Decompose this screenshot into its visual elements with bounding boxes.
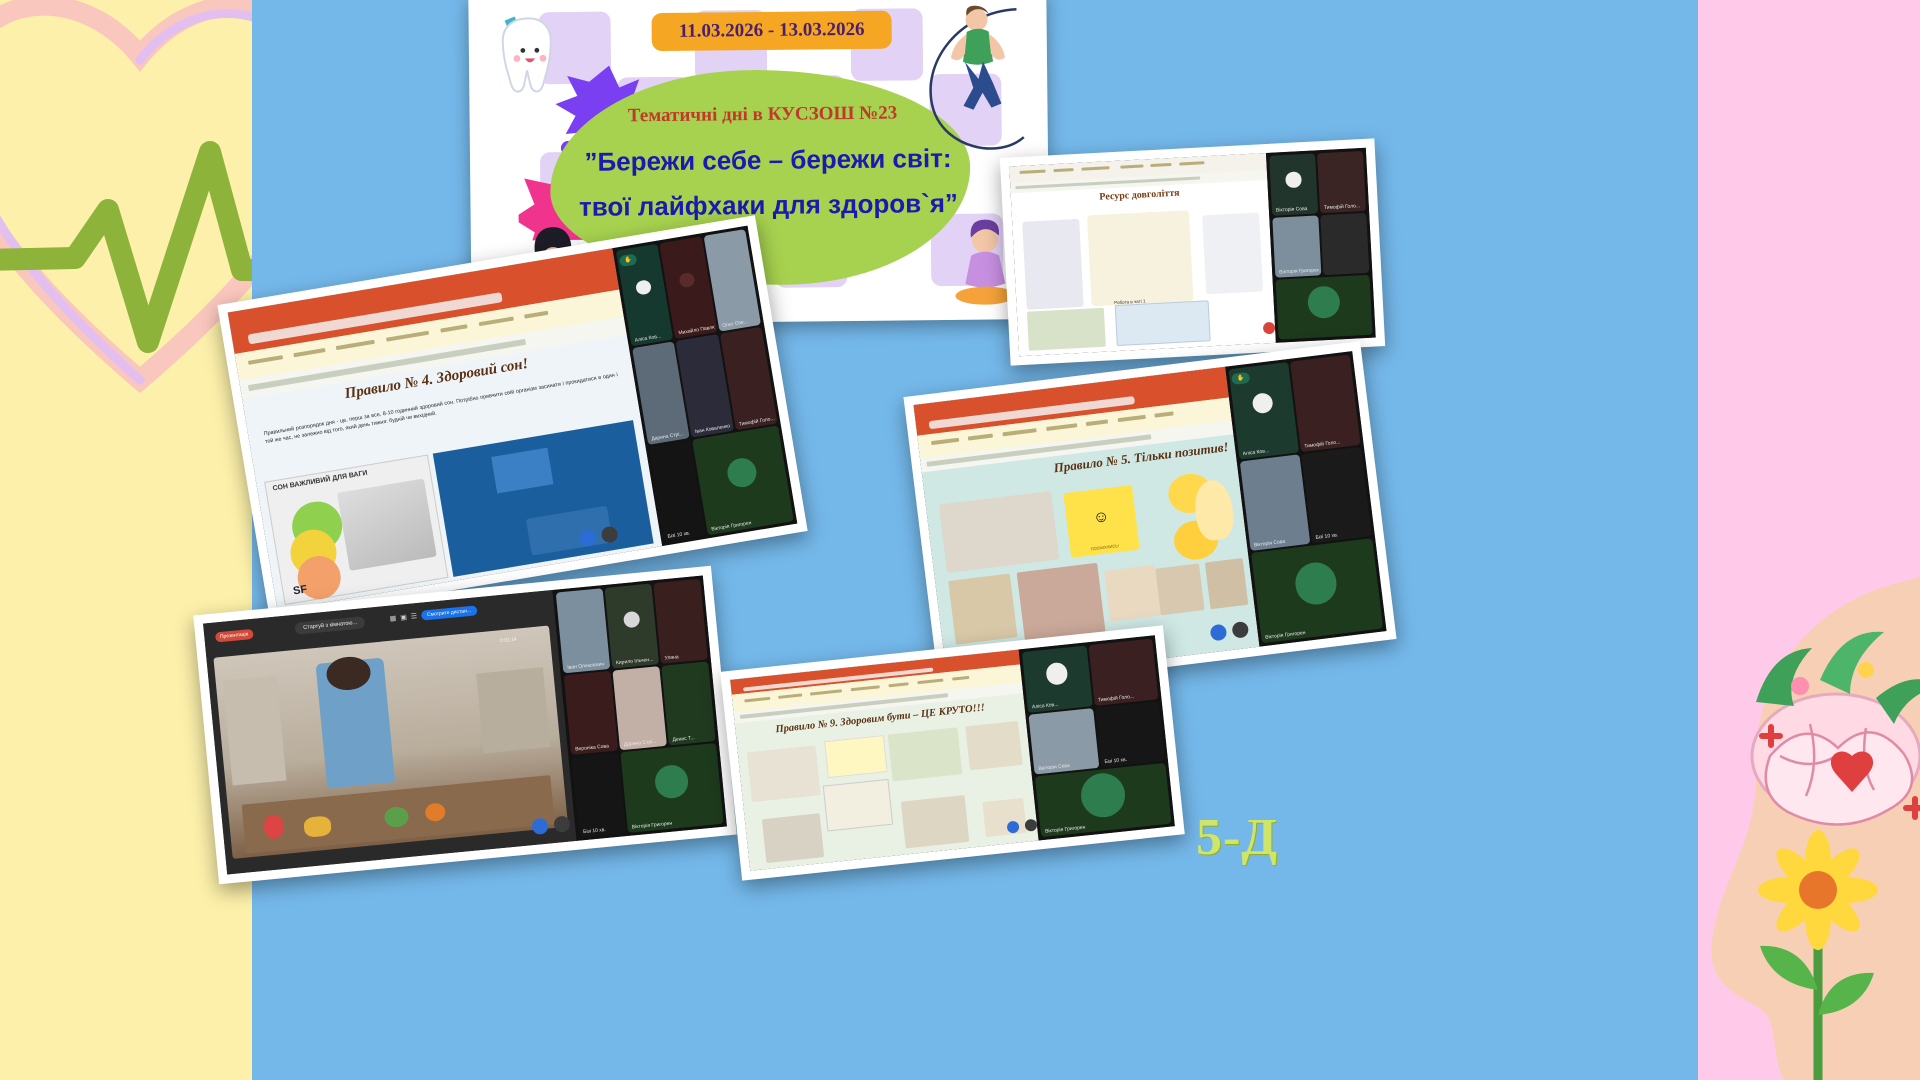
title-card-line2: твої лайфхаки для здоров`я” xyxy=(558,188,978,223)
magnifier-illustration xyxy=(1202,213,1263,294)
video-stage: Презентація Стартуй з кімнатою... ▦ ▣ ☰ … xyxy=(203,590,577,875)
right-decorative-panel xyxy=(1698,0,1920,1080)
jumping-boy-icon xyxy=(940,3,1011,114)
leave-call-button[interactable] xyxy=(1263,321,1276,334)
participant-name: Вікторія Григорен xyxy=(1279,267,1319,275)
kitchen-video-frame: 0:01:14 xyxy=(213,626,568,859)
video-toolbar: Презентація xyxy=(215,629,254,643)
participant-tile[interactable] xyxy=(1320,213,1369,275)
reactions-button[interactable] xyxy=(1210,623,1228,641)
participant-name: Бізі 10 хв. xyxy=(667,528,704,540)
grid-icon[interactable]: ▦ xyxy=(389,614,396,623)
participant-tile[interactable]: Бізі 10 хв. xyxy=(572,753,626,838)
friends-photo xyxy=(948,574,1018,645)
participant-name: Кирило Ільчен... xyxy=(616,656,657,666)
participant-tile[interactable]: Вікторія Григорен xyxy=(1272,215,1321,277)
participant-name: Іван Олексієвич xyxy=(567,661,608,671)
participant-name: Тимофій Голо... xyxy=(1324,203,1364,211)
sleep-infographic xyxy=(433,420,654,576)
smiley-sticker: ☺ ПОСМІХНИСЬ! xyxy=(1063,485,1139,557)
participant-tile[interactable]: Бізі 10 хв. xyxy=(1095,701,1165,768)
participant-name: Вікторія Григорен xyxy=(632,816,722,831)
reactions-button[interactable] xyxy=(1007,821,1020,834)
participant-tile[interactable]: Вероніка Сова xyxy=(564,670,618,755)
video-icons: ▦ ▣ ☰ Смотрите дистан... xyxy=(389,605,477,623)
participant-tile[interactable]: Тимофій Голо... xyxy=(1317,151,1366,213)
screenshot-rule4: Правило № 4. Здоровий сон! Правильний ро… xyxy=(217,215,807,621)
sleep-weight-panel: СОН ВАЖЛИВИЙ ДЛЯ ВАГИ SF xyxy=(264,455,448,605)
hand-raise-badge: ✋ xyxy=(618,253,637,267)
participant-tile[interactable]: Бізі 10 хв. xyxy=(1301,446,1372,543)
participant-tile[interactable]: Тимофій Голо... xyxy=(1088,639,1158,706)
participant-tile[interactable]: Уляна xyxy=(653,579,707,664)
fullscreen-button[interactable] xyxy=(600,525,618,543)
participant-tile[interactable]: Вікторія Григорен xyxy=(692,425,794,535)
participants-rail: Аліса Ков... Тимофій Голо... Вікторія Со… xyxy=(1019,635,1175,840)
left-decorative-panel xyxy=(0,0,252,1080)
thumbnail-image xyxy=(1114,300,1211,346)
participant-name: Уляна xyxy=(664,651,705,661)
participant-name: Вікторія Сова xyxy=(1276,205,1316,213)
room-dropdown[interactable]: Стартуй з кімнатою... xyxy=(295,616,366,635)
title-card-line1: ”Бережи себе – бережи світ: xyxy=(558,143,978,178)
presentation-slide: Правило № 9. Здоровим бути – ЦЕ КРУТО!!! xyxy=(735,693,1039,870)
cat-photo xyxy=(1155,563,1204,615)
screenshot-resurs: Ресурс довголіття Робота в чаті 1 Віктор… xyxy=(1000,138,1385,365)
screenshot-rule9: Правило № 9. Здоровим бути – ЦЕ КРУТО!!!… xyxy=(720,625,1185,880)
date-range-badge: 11.03.2026 - 13.03.2026 xyxy=(651,11,891,52)
pin-label[interactable]: Смотрите дистан... xyxy=(421,605,478,620)
screenshot-kitchen: Презентація Стартуй з кімнатою... ▦ ▣ ☰ … xyxy=(193,566,736,885)
teacher-illustration xyxy=(1022,219,1083,310)
hand-raise-badge: ✋ xyxy=(1231,372,1250,385)
participant-name: Вікторія Григорен xyxy=(1045,816,1170,835)
participant-tile[interactable]: ✋Аліса Ков... xyxy=(1228,362,1299,459)
panel-heading: СОН ВАЖЛИВИЙ ДЛЯ ВАГИ xyxy=(272,470,368,493)
pin-icon[interactable]: ▣ xyxy=(400,613,407,622)
participant-name: Дарина Стрі... xyxy=(624,738,665,748)
sport-photo xyxy=(888,727,962,781)
thumbnail-image xyxy=(1027,308,1106,351)
icon-grid-image xyxy=(823,779,893,832)
panel-logo: SF xyxy=(292,583,308,597)
fullscreen-button[interactable] xyxy=(1025,819,1038,832)
note-image xyxy=(824,735,888,779)
pet-photo xyxy=(1205,558,1248,609)
participant-tile[interactable]: Вікторія Григорен xyxy=(1251,538,1383,643)
participant-name: Бізі 10 хв. xyxy=(583,825,624,835)
handprints-image xyxy=(746,745,821,802)
daisy-flower-icon xyxy=(1728,800,1908,1080)
nutrition-plate-image xyxy=(1086,210,1193,307)
participant-name: Вікторія Григорен xyxy=(711,513,792,532)
dog-photo xyxy=(938,491,1058,573)
reactions-button[interactable] xyxy=(532,817,549,834)
presentation-badge: Презентація xyxy=(215,629,254,643)
meet-controls xyxy=(1263,321,1276,334)
participant-name: Вероніка Сова xyxy=(575,743,616,753)
participant-tile[interactable]: Вікторія Сова xyxy=(1029,708,1099,775)
participant-tile[interactable]: Денис Т... xyxy=(661,661,715,746)
participant-tile[interactable]: Тимофій Голо... xyxy=(1290,354,1361,451)
reactions-button[interactable] xyxy=(578,529,596,547)
participant-tile[interactable]: Вікторія Сова xyxy=(1240,454,1311,551)
figures-image xyxy=(762,813,824,863)
fruit-image xyxy=(901,795,969,849)
timer-text: 0:01:14 xyxy=(500,637,517,645)
participant-tile[interactable]: Вікторія Сова xyxy=(1269,153,1318,215)
participant-name: Денис Т... xyxy=(672,734,713,744)
title-card-subtitle: Тематичні дні в КУСЗОШ №23 xyxy=(572,102,952,128)
poster-canvas: 11.03.2026 - 13.03.2026 Тематичні дні в … xyxy=(0,0,1920,1080)
participant-tile[interactable]: Вікторія Григорен xyxy=(1035,763,1171,837)
participant-tile[interactable]: Кирило Ільчен... xyxy=(605,583,659,668)
participants-rail: Вікторія Сова Тимофій Голо... Вікторія Г… xyxy=(1266,148,1376,343)
participant-tile[interactable]: Іван Олексієвич xyxy=(556,588,610,673)
participant-tile[interactable]: Дарина Стрі... xyxy=(613,666,667,751)
exercise-photo xyxy=(966,721,1023,771)
children-photo xyxy=(1105,565,1161,622)
participant-tile[interactable] xyxy=(1276,275,1373,340)
fullscreen-button[interactable] xyxy=(554,815,571,832)
date-range-text: 11.03.2026 - 13.03.2026 xyxy=(679,19,865,43)
sticker-text: ПОСМІХНИСЬ! xyxy=(1070,540,1139,553)
participant-tile[interactable]: Вікторія Григорен xyxy=(621,743,724,832)
list-icon[interactable]: ☰ xyxy=(410,612,417,621)
fullscreen-button[interactable] xyxy=(1231,621,1249,639)
heartbeat-line-icon xyxy=(0,90,252,370)
presentation-slide: Ресурс довголіття Робота в чаті 1 xyxy=(1011,180,1276,357)
class-label: 5-Д xyxy=(1196,808,1278,867)
participant-tile[interactable]: Аліса Ков... xyxy=(1022,645,1092,712)
participants-rail: Іван Олексієвич Кирило Ільчен... Уляна В… xyxy=(553,576,727,841)
participant-name: Вікторія Григорен xyxy=(1265,621,1381,641)
